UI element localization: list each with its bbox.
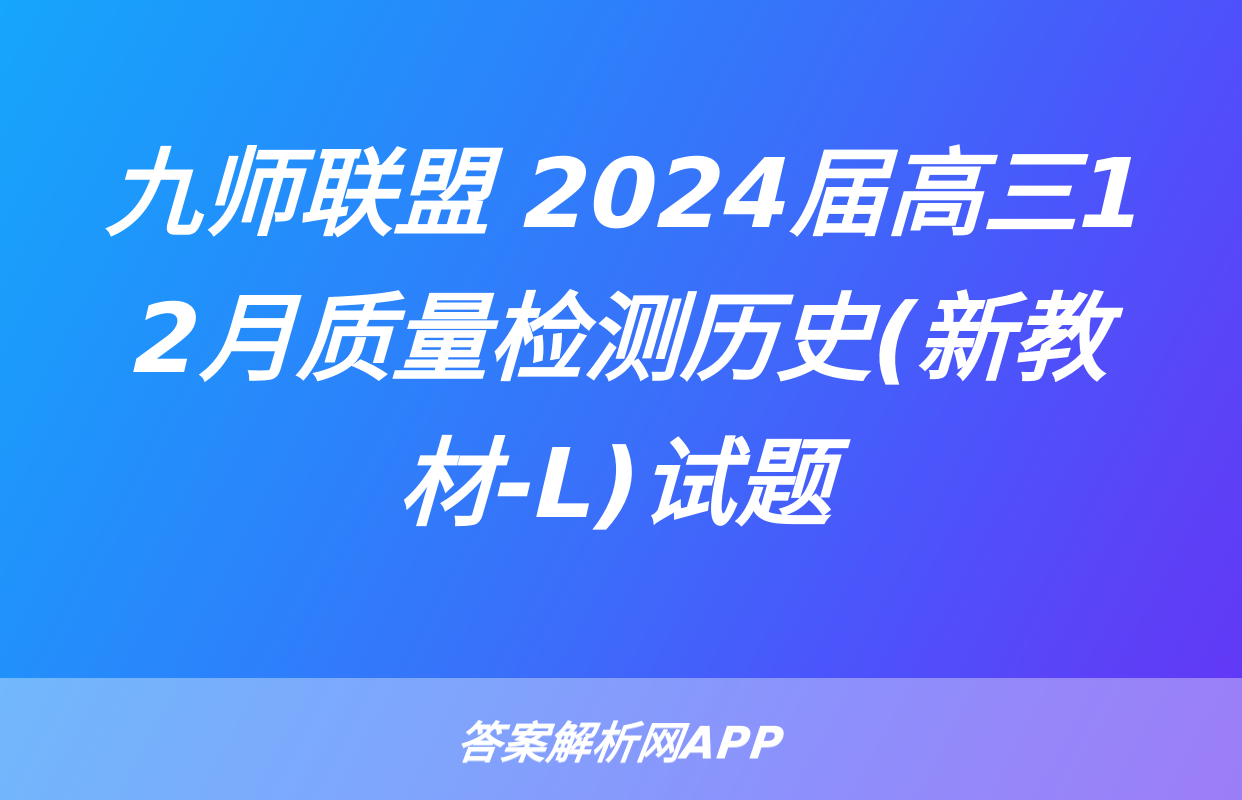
cover-title-area: 九师联盟 2024届高三12月质量检测历史(新教材-L)试题	[0, 0, 1242, 678]
page-title: 九师联盟 2024届高三12月质量检测历史(新教材-L)试题	[70, 122, 1171, 557]
watermark-label: 答案解析网APP	[453, 707, 789, 771]
exam-cover-card: 九师联盟 2024届高三12月质量检测历史(新教材-L)试题 答案解析网APP	[0, 0, 1242, 800]
watermark-band: 答案解析网APP	[0, 678, 1242, 800]
